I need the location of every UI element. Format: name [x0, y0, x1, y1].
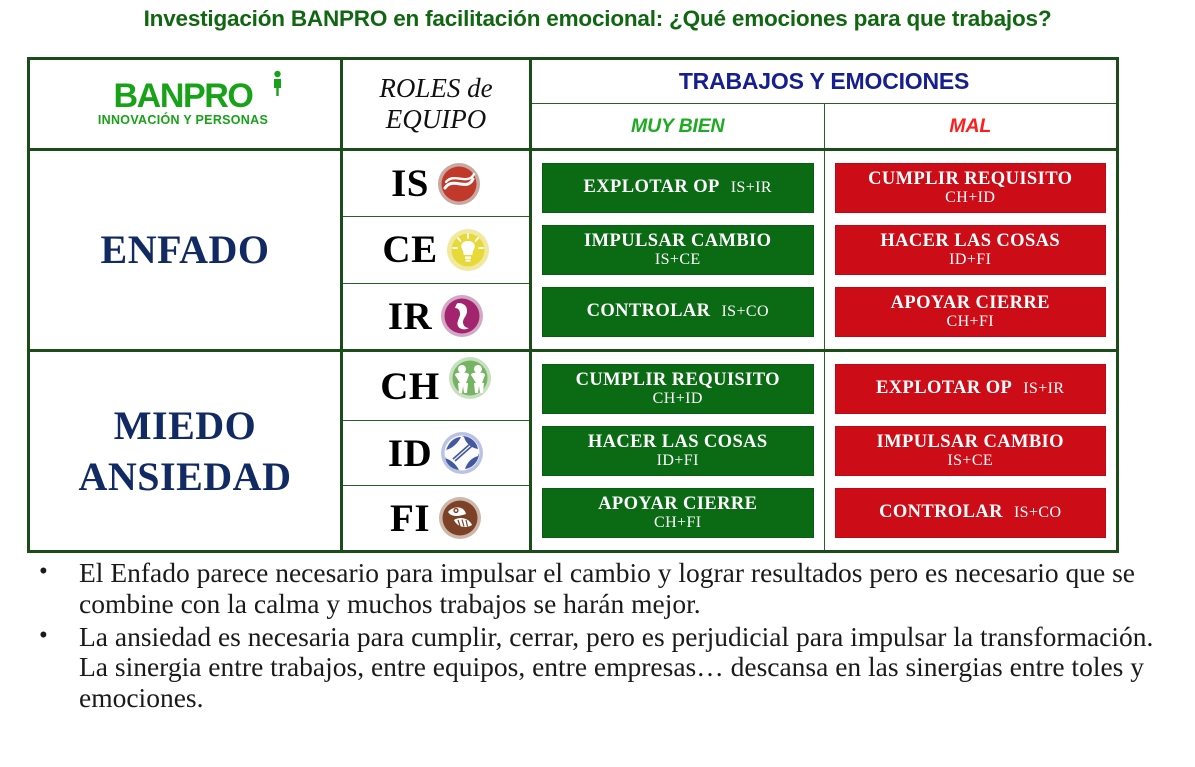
job-code: IS+CE	[947, 453, 993, 469]
jobs-cell-enfado: EXPLOTAR OP IS+IR IMPULSAR CAMBIO IS+CE …	[532, 151, 1116, 349]
role-code-ch: CH	[380, 364, 440, 409]
job-box-bad-3[interactable]: CONTROLAR IS+CO	[835, 488, 1107, 538]
page-title: Investigación BANPRO en facilitación emo…	[0, 6, 1195, 32]
note-text: La ansiedad es necesaria para cumplir, c…	[79, 622, 1182, 714]
job-box-good-1[interactable]: EXPLOTAR OP IS+IR	[542, 163, 814, 213]
slide-canvas: Investigación BANPRO en facilitación emo…	[0, 0, 1195, 767]
job-box-good-2[interactable]: HACER LAS COSAS ID+FI	[542, 426, 814, 476]
job-name: CONTROLAR	[879, 503, 1003, 522]
role-row-ir[interactable]: IR	[343, 284, 529, 349]
bad-jobs-miedo-ansiedad: EXPLOTAR OP IS+IR IMPULSAR CAMBIO IS+CE …	[825, 352, 1117, 550]
phone-handset-circle-icon	[440, 294, 484, 338]
notes-list: • El Enfado parece necesario para impuls…	[27, 558, 1182, 716]
role-code-fi: FI	[390, 496, 430, 541]
job-code: ID+FI	[657, 453, 699, 469]
job-code: IS+IR	[731, 180, 772, 196]
job-box-bad-1[interactable]: CUMPLIR REQUISITO CH+ID	[835, 163, 1107, 213]
role-row-fi[interactable]: FI	[343, 486, 529, 550]
jobs-subheader-row: MUY BIEN MAL	[532, 104, 1116, 148]
role-code-id: ID	[388, 431, 432, 476]
job-code: IS+IR	[1023, 381, 1064, 397]
role-row-id[interactable]: ID	[343, 421, 529, 486]
jobs-header-label: TRABAJOS Y EMOCIONES	[532, 60, 1116, 104]
bad-jobs-enfado: CUMPLIR REQUISITO CH+ID HACER LAS COSAS …	[825, 151, 1117, 349]
banpro-wordmark: BANPRO	[98, 80, 268, 112]
role-code-is: IS	[391, 161, 429, 206]
job-name: EXPLOTAR OP	[584, 178, 720, 197]
job-name: APOYAR CIERRE	[598, 495, 757, 514]
job-box-good-3[interactable]: APOYAR CIERRE CH+FI	[542, 488, 814, 538]
scribble-circle-icon	[437, 162, 481, 206]
job-code: IS+CO	[721, 304, 768, 320]
job-box-bad-2[interactable]: HACER LAS COSAS ID+FI	[835, 225, 1107, 275]
gears-globe-circle-icon	[440, 431, 484, 475]
bullet-marker: •	[27, 558, 79, 620]
roles-cell-enfado: IS CE	[343, 151, 532, 349]
good-jobs-enfado: EXPLOTAR OP IS+IR IMPULSAR CAMBIO IS+CE …	[532, 151, 825, 349]
job-box-good-2[interactable]: IMPULSAR CAMBIO IS+CE	[542, 225, 814, 275]
job-name: EXPLOTAR OP	[876, 379, 1012, 398]
job-code: ID+FI	[949, 252, 991, 268]
job-code: CH+FI	[654, 515, 701, 531]
job-box-bad-3[interactable]: APOYAR CIERRE CH+FI	[835, 287, 1107, 337]
job-box-bad-2[interactable]: IMPULSAR CAMBIO IS+CE	[835, 426, 1107, 476]
role-row-is[interactable]: IS	[343, 151, 529, 217]
job-name: APOYAR CIERRE	[891, 294, 1050, 313]
note-bullet-1: • El Enfado parece necesario para impuls…	[27, 558, 1182, 620]
emotion-label-enfado: ENFADO	[30, 151, 343, 349]
note-bullet-2: • La ansiedad es necesaria para cumplir,…	[27, 622, 1182, 714]
bullet-marker: •	[27, 622, 79, 714]
bad-column-header: MAL	[825, 104, 1117, 148]
role-code-ir: IR	[388, 294, 432, 339]
job-name: CUMPLIR REQUISITO	[868, 170, 1072, 189]
jobs-column-header: TRABAJOS Y EMOCIONES MUY BIEN MAL	[532, 60, 1116, 148]
good-column-header: MUY BIEN	[532, 104, 825, 148]
two-people-circle-icon	[448, 356, 492, 400]
role-row-ce[interactable]: CE	[343, 217, 529, 283]
job-box-good-1[interactable]: CUMPLIR REQUISITO CH+ID	[542, 364, 814, 414]
note-text: El Enfado parece necesario para impulsar…	[79, 558, 1182, 620]
logo-cell: BANPRO INNOVACIÓN Y PERSONAS	[30, 60, 343, 148]
job-name: HACER LAS COSAS	[588, 433, 768, 452]
job-name: CUMPLIR REQUISITO	[576, 371, 780, 390]
job-code: IS+CO	[1014, 505, 1061, 521]
job-code: CH+ID	[653, 391, 703, 407]
emotion-label-miedo-ansiedad: MIEDO ANSIEDAD	[30, 352, 343, 550]
person-figure-icon	[272, 70, 283, 96]
job-name: HACER LAS COSAS	[880, 232, 1060, 251]
roles-column-header: ROLES de EQUIPO	[343, 60, 532, 148]
emotion-label-line-1: MIEDO	[79, 400, 292, 451]
emotion-label-line-2: ANSIEDAD	[79, 451, 292, 502]
matrix-header-row: BANPRO INNOVACIÓN Y PERSONAS ROLES de EQ…	[30, 60, 1116, 151]
emotion-jobs-matrix: BANPRO INNOVACIÓN Y PERSONAS ROLES de EQ…	[27, 57, 1119, 553]
roles-cell-miedo-ansiedad: CH ID	[343, 352, 532, 550]
job-name: CONTROLAR	[587, 302, 711, 321]
job-box-bad-1[interactable]: EXPLOTAR OP IS+IR	[835, 364, 1107, 414]
banpro-tagline: INNOVACIÓN Y PERSONAS	[98, 114, 268, 128]
role-row-ch[interactable]: CH	[343, 352, 529, 421]
jobs-cell-miedo-ansiedad: CUMPLIR REQUISITO CH+ID HACER LAS COSAS …	[532, 352, 1116, 550]
job-code: CH+FI	[947, 314, 994, 330]
roles-column-header-label: ROLES de EQUIPO	[343, 73, 529, 135]
fish-circle-icon	[438, 496, 482, 540]
job-name: IMPULSAR CAMBIO	[584, 232, 771, 251]
emotion-block-enfado: ENFADO IS CE	[30, 151, 1116, 352]
emotion-block-miedo-ansiedad: MIEDO ANSIEDAD CH I	[30, 352, 1116, 550]
job-code: CH+ID	[945, 190, 995, 206]
good-jobs-miedo-ansiedad: CUMPLIR REQUISITO CH+ID HACER LAS COSAS …	[532, 352, 825, 550]
job-name: IMPULSAR CAMBIO	[877, 433, 1064, 452]
banpro-logo: BANPRO INNOVACIÓN Y PERSONAS	[98, 80, 272, 127]
lightbulb-circle-icon	[446, 228, 490, 272]
role-code-ce: CE	[382, 227, 437, 272]
job-box-good-3[interactable]: CONTROLAR IS+CO	[542, 287, 814, 337]
job-code: IS+CE	[655, 252, 701, 268]
